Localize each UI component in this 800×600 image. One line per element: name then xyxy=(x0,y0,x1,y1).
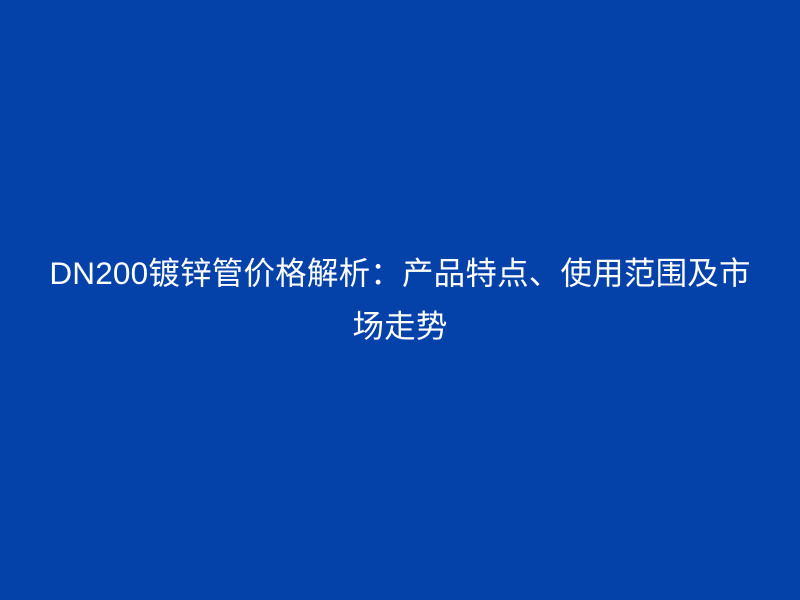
title-card-canvas: DN200镀锌管价格解析：产品特点、使用范围及市场走势 xyxy=(0,0,800,600)
title-block: DN200镀锌管价格解析：产品特点、使用范围及市场走势 xyxy=(45,247,755,353)
page-title: DN200镀锌管价格解析：产品特点、使用范围及市场走势 xyxy=(45,247,755,353)
